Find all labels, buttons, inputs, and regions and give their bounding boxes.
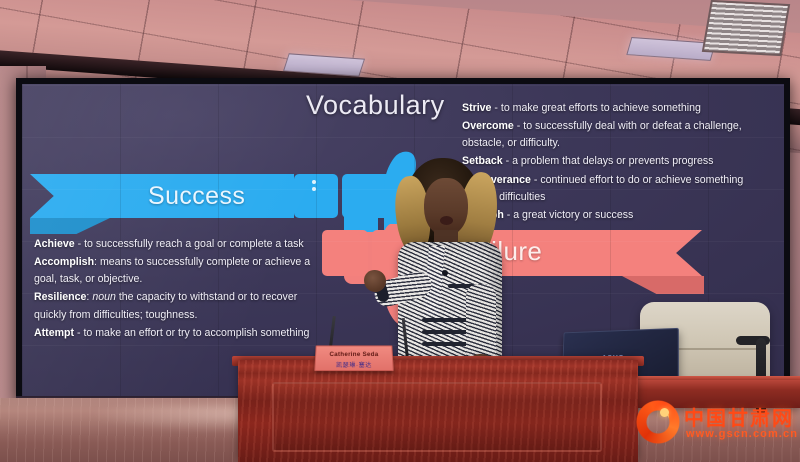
speaker-jacket-button [442, 270, 448, 276]
chip-dots-icon [312, 180, 316, 194]
watermark: 中国甘肃网 www.gscn.com.cn [636, 398, 796, 452]
definition-item: Attempt - to make an effort or try to ac… [34, 325, 324, 342]
failure-chip [322, 230, 368, 276]
failure-ribbon-tail [622, 276, 704, 294]
watermark-site-name: 中国甘肃网 [684, 402, 794, 431]
speaker-gesturing-hand [364, 270, 386, 292]
success-ribbon-tail [30, 218, 110, 234]
lecture-hall-photo: Vocabulary Success Failure [0, 0, 800, 462]
definition-item: Overcome - to successfully deal with or … [462, 118, 762, 152]
speaker-face [424, 178, 468, 236]
definition-item: Accomplish: means to successfully comple… [34, 254, 324, 288]
definition-item: Strive - to make great efforts to achiev… [462, 100, 762, 117]
nameplate-name-en: Catherine Seda [316, 351, 392, 358]
nameplate-name-cn: 凯瑟琳·塞达 [315, 360, 392, 369]
definition-item: Resilience: noun the capacity to withsta… [34, 289, 324, 323]
definition-item: Achieve - to successfully reach a goal o… [34, 236, 324, 253]
speaker-mouth [440, 216, 453, 225]
speaker-nameplate: Catherine Seda 凯瑟琳·塞达 [314, 345, 393, 371]
ceiling-vent-grille [702, 0, 790, 56]
watermark-logo-icon [636, 400, 680, 444]
watermark-url: www.gscn.com.cn [686, 428, 798, 440]
success-definitions-list: Achieve - to successfully reach a goal o… [34, 236, 324, 343]
watermark-logo-dot-icon [660, 408, 669, 417]
podium-front-panel [272, 382, 602, 452]
